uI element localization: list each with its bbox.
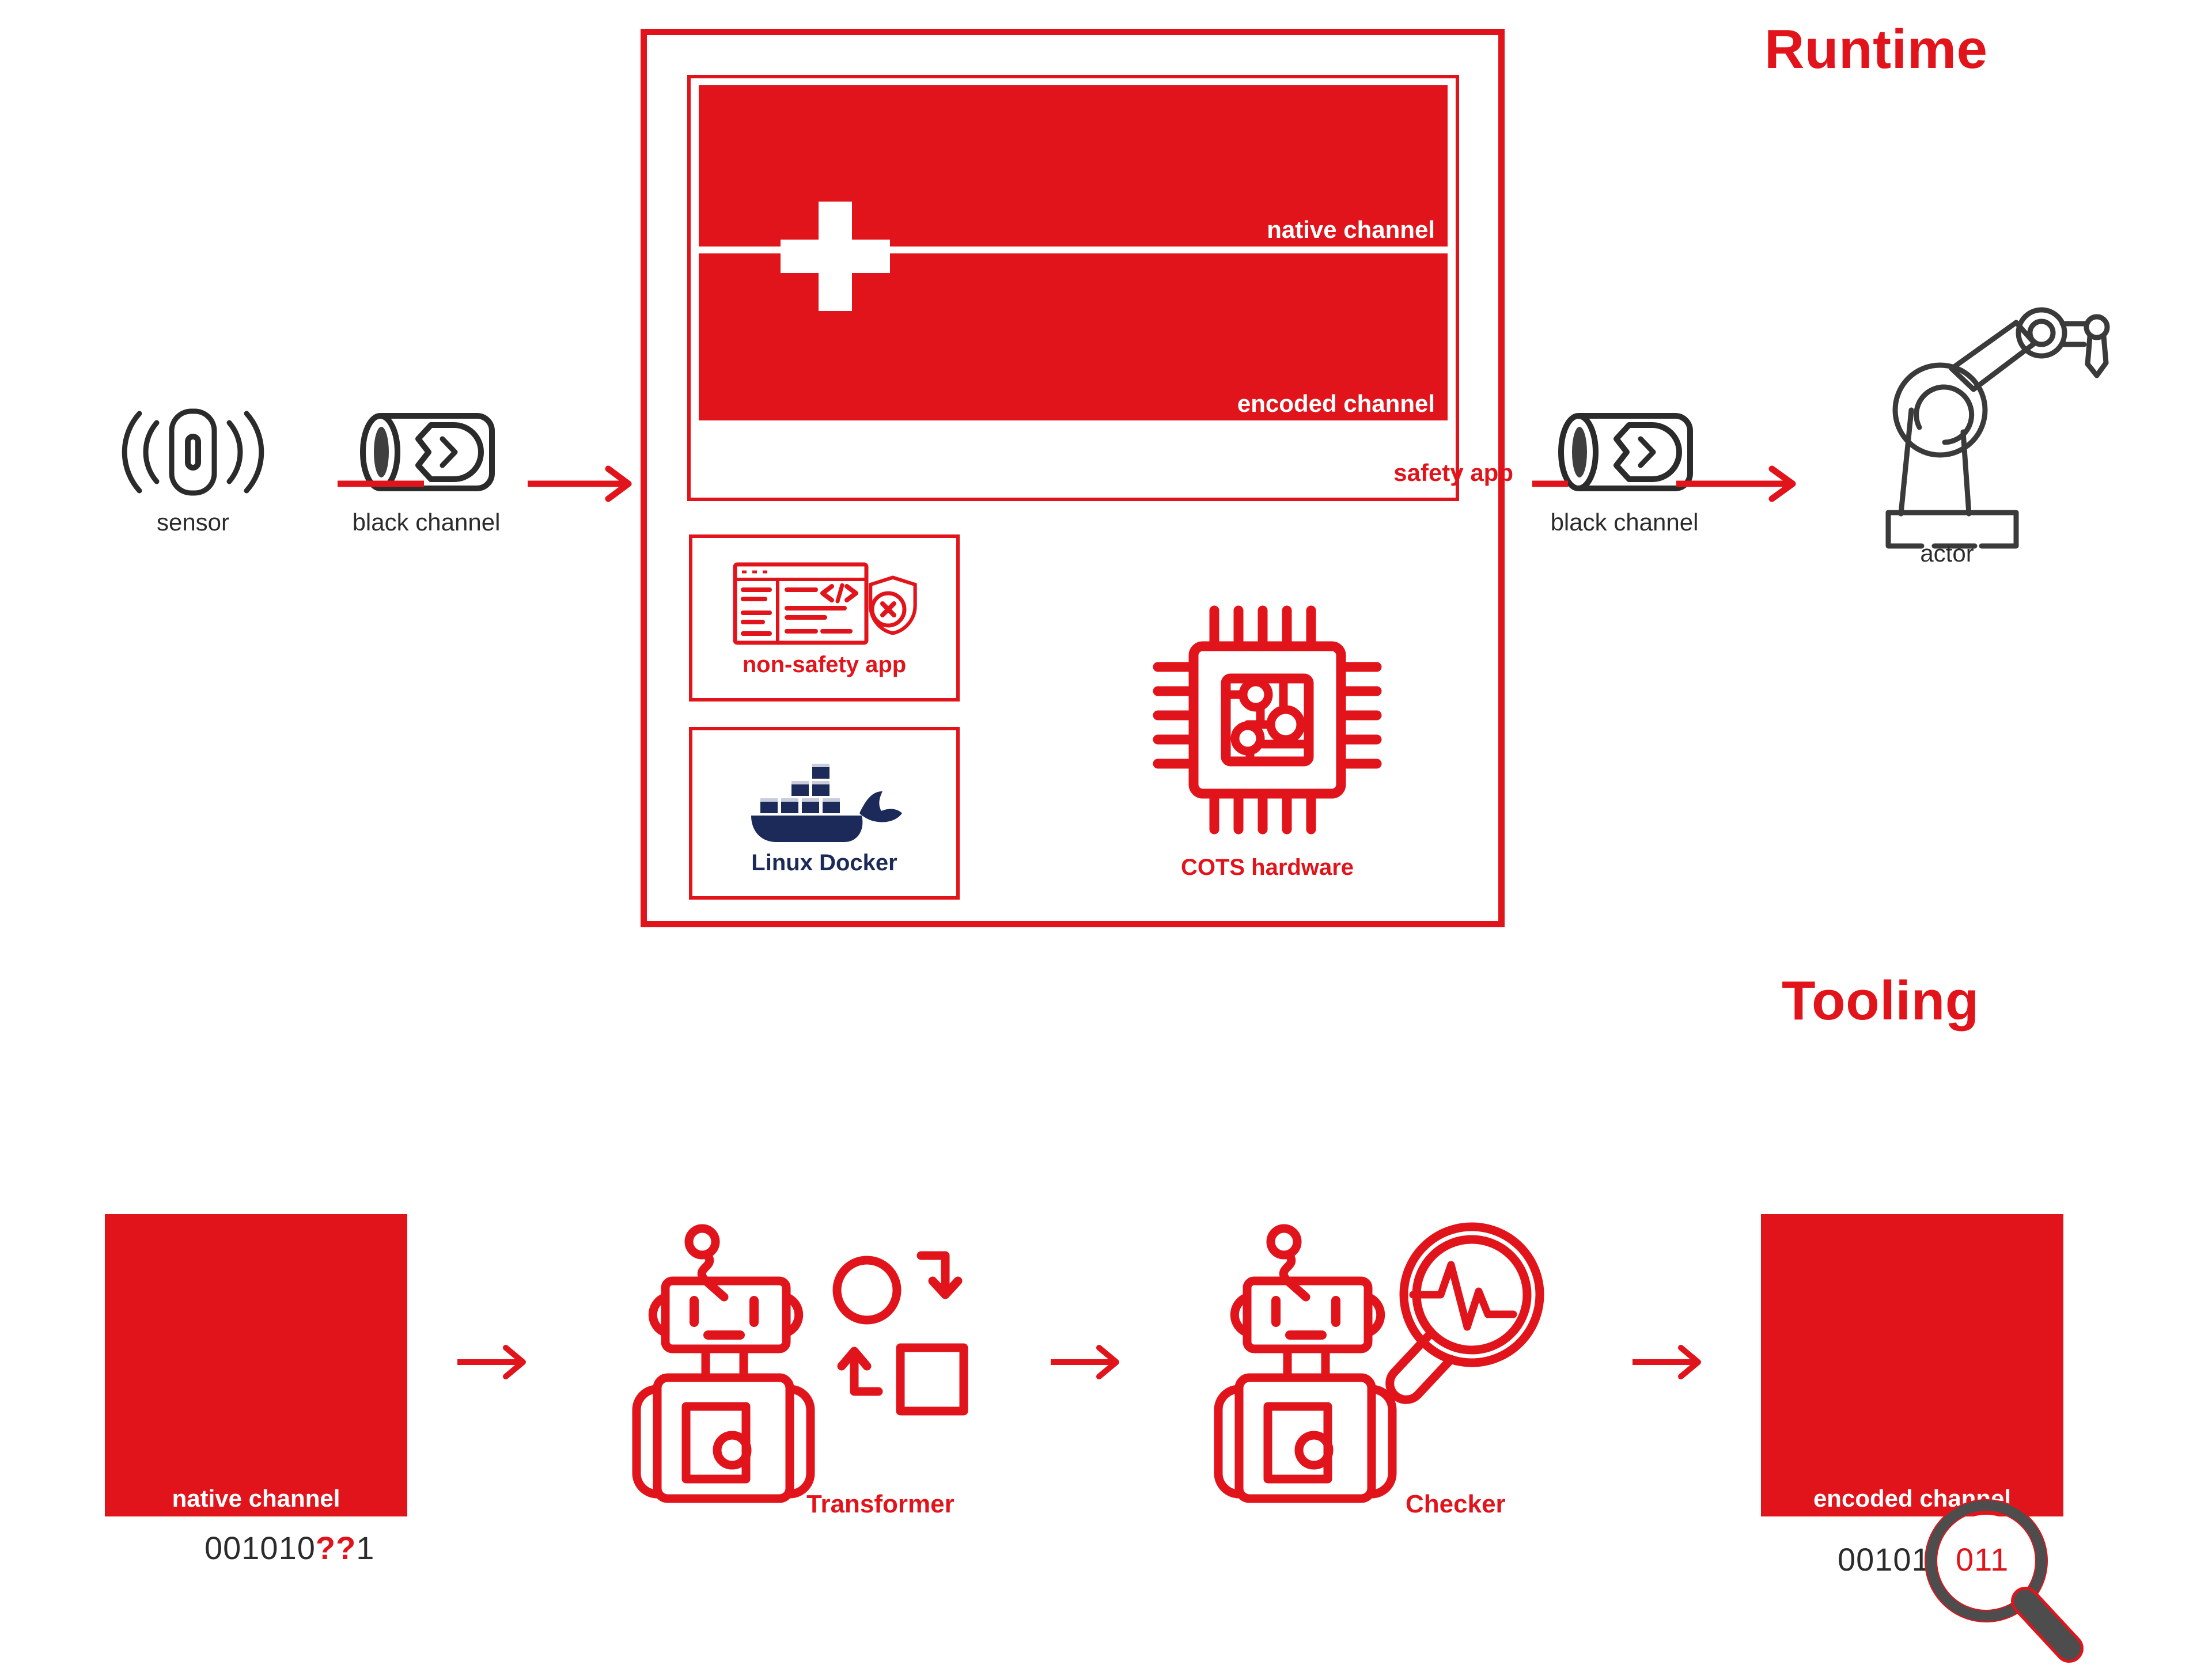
actor-group: actor	[1809, 288, 2085, 566]
safety-app-label: safety app	[1393, 461, 1513, 485]
runtime-heading: Runtime	[1764, 22, 1988, 77]
native-channel-bits: 001010??1	[204, 1532, 374, 1564]
black-channel-in-label: black channel	[353, 510, 501, 534]
arrow-sensor-to-runtime	[338, 461, 637, 507]
tooling-heading: Tooling	[1782, 973, 1979, 1029]
native-channel-label: native channel	[1267, 218, 1435, 242]
native-bits-unknown: ??	[316, 1530, 356, 1566]
code-window-shield-icon	[729, 560, 919, 646]
cots-hardware-label: COTS hardware	[1181, 856, 1354, 879]
robot-arm-icon	[1809, 288, 2085, 547]
tooling-encoded-channel-box: encoded channel	[1761, 1214, 2063, 1516]
encoded-channel-label: encoded channel	[1237, 392, 1435, 416]
native-bits-suffix: 1	[356, 1530, 374, 1566]
magnifier-icon	[1912, 1497, 2103, 1676]
transformer-label: Transformer	[806, 1492, 955, 1517]
docker-whale-icon	[747, 752, 902, 844]
native-bits-prefix: 001010	[204, 1530, 316, 1566]
checker-label: Checker	[1406, 1492, 1506, 1517]
sensor-label: sensor	[157, 510, 229, 534]
arrow-transformer-to-checker	[1048, 1336, 1123, 1388]
sensor-waves-icon	[104, 403, 282, 501]
black-channel-out-label: black channel	[1551, 510, 1699, 534]
arrow-checker-to-encoded	[1630, 1336, 1705, 1388]
tooling-native-channel-label: native channel	[105, 1487, 407, 1511]
tooling-native-channel-box: native channel	[105, 1214, 407, 1516]
non-safety-app-box: non-safety app	[689, 534, 960, 702]
cpu-chip-icon	[1141, 593, 1394, 847]
robot-checker-icon	[1213, 1227, 1581, 1532]
cots-hardware-group: COTS hardware	[1129, 593, 1406, 879]
arrow-runtime-to-actor	[1532, 461, 1809, 507]
actor-label: actor	[1920, 541, 1974, 566]
sensor-group: sensor	[104, 403, 282, 534]
robot-transformer-icon	[631, 1227, 999, 1532]
plus-cross-icon	[781, 202, 890, 311]
linux-docker-box: Linux Docker	[689, 727, 960, 900]
non-safety-app-label: non-safety app	[743, 653, 906, 676]
linux-docker-label: Linux Docker	[751, 851, 897, 874]
arrow-native-to-transformer	[455, 1336, 530, 1388]
encoded-bits-magnified: 011	[1956, 1544, 2009, 1576]
